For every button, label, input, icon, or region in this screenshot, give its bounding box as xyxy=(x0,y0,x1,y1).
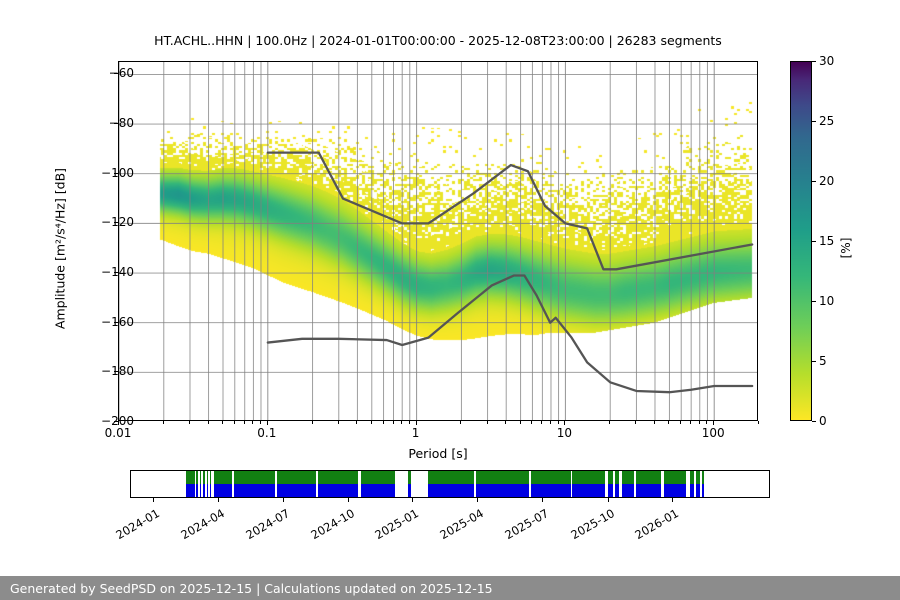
y-tick-label: −180 xyxy=(101,364,134,378)
x-tick-minor xyxy=(635,421,636,424)
timeline-segment xyxy=(277,471,316,497)
x-tick-label: 1 xyxy=(412,426,420,440)
x-tick-minor xyxy=(706,421,707,424)
x-tick-minor xyxy=(312,421,313,424)
x-tick-label: 0.1 xyxy=(257,426,276,440)
x-tick-minor xyxy=(505,421,506,424)
timeline-tick-label: 2025-10 xyxy=(559,506,616,547)
timeline-segment xyxy=(408,471,411,497)
y-tick-label: −120 xyxy=(101,215,134,229)
timeline-segment xyxy=(234,471,274,497)
timeline-tick-label: 2024-04 xyxy=(169,506,226,547)
x-tick-minor xyxy=(371,421,372,424)
y-axis-label: Amplitude [m²/s⁴/Hz] [dB] xyxy=(53,129,68,369)
colorbar-tick-label: 10 xyxy=(819,294,834,308)
timeline-segment xyxy=(476,471,530,497)
colorbar-tick-label: 30 xyxy=(819,54,834,68)
x-tick-minor xyxy=(338,421,339,424)
timeline-segment xyxy=(186,471,195,497)
colorbar-gradient xyxy=(790,61,812,421)
psd-figure: HT.ACHL..HHN | 100.0Hz | 2024-01-01T00:0… xyxy=(0,0,900,600)
footer-text: Generated by SeedPSD on 2025-12-15 | Cal… xyxy=(10,581,493,596)
colorbar-tick-label: 25 xyxy=(819,114,834,128)
timeline-segment xyxy=(196,471,199,497)
x-tick-minor xyxy=(356,421,357,424)
timeline-segment xyxy=(318,471,358,497)
timeline-segment xyxy=(690,471,694,497)
timeline-segment xyxy=(615,471,619,497)
colorbar-tick xyxy=(812,361,816,362)
x-tick-minor xyxy=(244,421,245,424)
x-tick-major xyxy=(118,421,119,425)
x-tick-minor xyxy=(234,421,235,424)
timeline-segment xyxy=(608,471,613,497)
data-availability-timeline[interactable] xyxy=(130,470,770,498)
x-tick-minor xyxy=(252,421,253,424)
x-tick-minor xyxy=(393,421,394,424)
x-tick-minor xyxy=(409,421,410,424)
timeline-segment xyxy=(622,471,633,497)
colorbar-tick xyxy=(812,61,816,62)
timeline-segment xyxy=(572,471,605,497)
x-tick-minor xyxy=(487,421,488,424)
x-tick-label: 0.01 xyxy=(105,426,132,440)
timeline-tick xyxy=(542,498,543,502)
x-tick-major xyxy=(267,421,268,425)
timeline-segment xyxy=(361,471,395,497)
x-tick-minor xyxy=(668,421,669,424)
chart-title: HT.ACHL..HHN | 100.0Hz | 2024-01-01T00:0… xyxy=(118,33,758,48)
x-tick-minor xyxy=(758,421,759,424)
x-tick-minor xyxy=(609,421,610,424)
x-tick-label: 10 xyxy=(557,426,572,440)
timeline-segment xyxy=(664,471,686,497)
timeline-segment xyxy=(203,471,205,497)
timeline-segment xyxy=(531,471,571,497)
timeline-tick-label: 2025-07 xyxy=(494,506,551,547)
x-tick-minor xyxy=(541,421,542,424)
x-tick-minor xyxy=(558,421,559,424)
timeline-tick-label: 2024-07 xyxy=(235,506,292,547)
x-tick-minor xyxy=(383,421,384,424)
timeline-segment xyxy=(696,471,700,497)
timeline-tick xyxy=(412,498,413,502)
x-axis-label: Period [s] xyxy=(118,446,758,461)
x-tick-label: 100 xyxy=(702,426,725,440)
colorbar-tick xyxy=(812,421,816,422)
y-tick-label: −80 xyxy=(109,116,134,130)
timeline-tick xyxy=(153,498,154,502)
noise-model-curves xyxy=(119,62,758,421)
timeline-segment xyxy=(702,471,704,497)
timeline-tick xyxy=(608,498,609,502)
colorbar-label: [%] xyxy=(839,218,853,278)
x-tick-minor xyxy=(260,421,261,424)
colorbar-tick-label: 0 xyxy=(819,414,827,428)
timeline-tick xyxy=(348,498,349,502)
timeline-tick xyxy=(218,498,219,502)
x-tick-minor xyxy=(460,421,461,424)
timeline-segment xyxy=(200,471,201,497)
timeline-segment xyxy=(636,471,660,497)
colorbar-tick xyxy=(812,301,816,302)
x-tick-minor xyxy=(401,421,402,424)
x-tick-minor xyxy=(531,421,532,424)
colorbar-tick xyxy=(812,121,816,122)
y-tick-label: −60 xyxy=(109,66,134,80)
colorbar-tick-label: 20 xyxy=(819,174,834,188)
x-tick-major xyxy=(713,421,714,425)
colorbar-tick-label: 5 xyxy=(819,354,827,368)
timeline-tick xyxy=(672,498,673,502)
y-tick-label: −100 xyxy=(101,166,134,180)
timeline-tick-label: 2026-01 xyxy=(624,506,681,547)
x-tick-minor xyxy=(163,421,164,424)
timeline-segment xyxy=(210,471,211,497)
timeline-tick-label: 2025-04 xyxy=(429,506,486,547)
y-tick-label: −160 xyxy=(101,315,134,329)
x-tick-minor xyxy=(222,421,223,424)
psd-plot-area[interactable] xyxy=(118,61,758,421)
colorbar-tick xyxy=(812,241,816,242)
y-tick-label: −140 xyxy=(101,265,134,279)
timeline-segment xyxy=(428,471,473,497)
x-tick-minor xyxy=(680,421,681,424)
timeline-tick-label: 2024-10 xyxy=(300,506,357,547)
x-tick-minor xyxy=(699,421,700,424)
timeline-tick-label: 2024-01 xyxy=(104,506,161,547)
x-tick-minor xyxy=(208,421,209,424)
timeline-segment xyxy=(214,471,232,497)
timeline-tick xyxy=(283,498,284,502)
x-tick-minor xyxy=(654,421,655,424)
colorbar-tick xyxy=(812,181,816,182)
x-tick-major xyxy=(564,421,565,425)
x-tick-minor xyxy=(550,421,551,424)
x-tick-minor xyxy=(690,421,691,424)
timeline-tick xyxy=(477,498,478,502)
timeline-tick-label: 2025-01 xyxy=(364,506,421,547)
x-tick-major xyxy=(416,421,417,425)
x-tick-minor xyxy=(520,421,521,424)
colorbar-tick-label: 15 xyxy=(819,234,834,248)
timeline-segment xyxy=(207,471,209,497)
x-tick-minor xyxy=(189,421,190,424)
